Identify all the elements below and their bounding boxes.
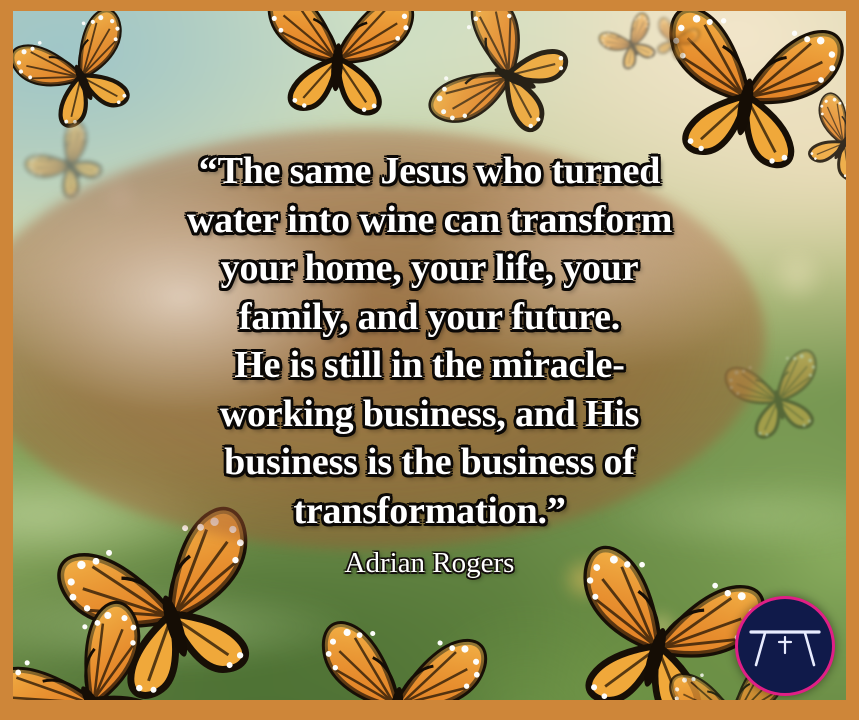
quote-line: working business, and His (73, 390, 786, 439)
quote-poster: “The same Jesus who turned water into wi… (0, 0, 859, 720)
quote-line: family, and your future. (73, 293, 786, 342)
quote-line: He is still in the miracle- (73, 341, 786, 390)
photo-area: “The same Jesus who turned water into wi… (13, 11, 846, 700)
quote-line: business is the business of (73, 438, 786, 487)
quote-line: “The same Jesus who turned (73, 147, 786, 196)
butterfly (259, 11, 418, 122)
altar-cross-logo[interactable] (735, 596, 835, 696)
quote-line: transformation.” (73, 487, 786, 536)
quote-line: water into wine can transform (73, 196, 786, 245)
quote-attribution: Adrian Rogers (13, 546, 846, 580)
quote-text-block: “The same Jesus who turned water into wi… (13, 147, 846, 535)
altar-cross-icon (747, 615, 823, 677)
quote-line: your home, your life, your (73, 244, 786, 293)
